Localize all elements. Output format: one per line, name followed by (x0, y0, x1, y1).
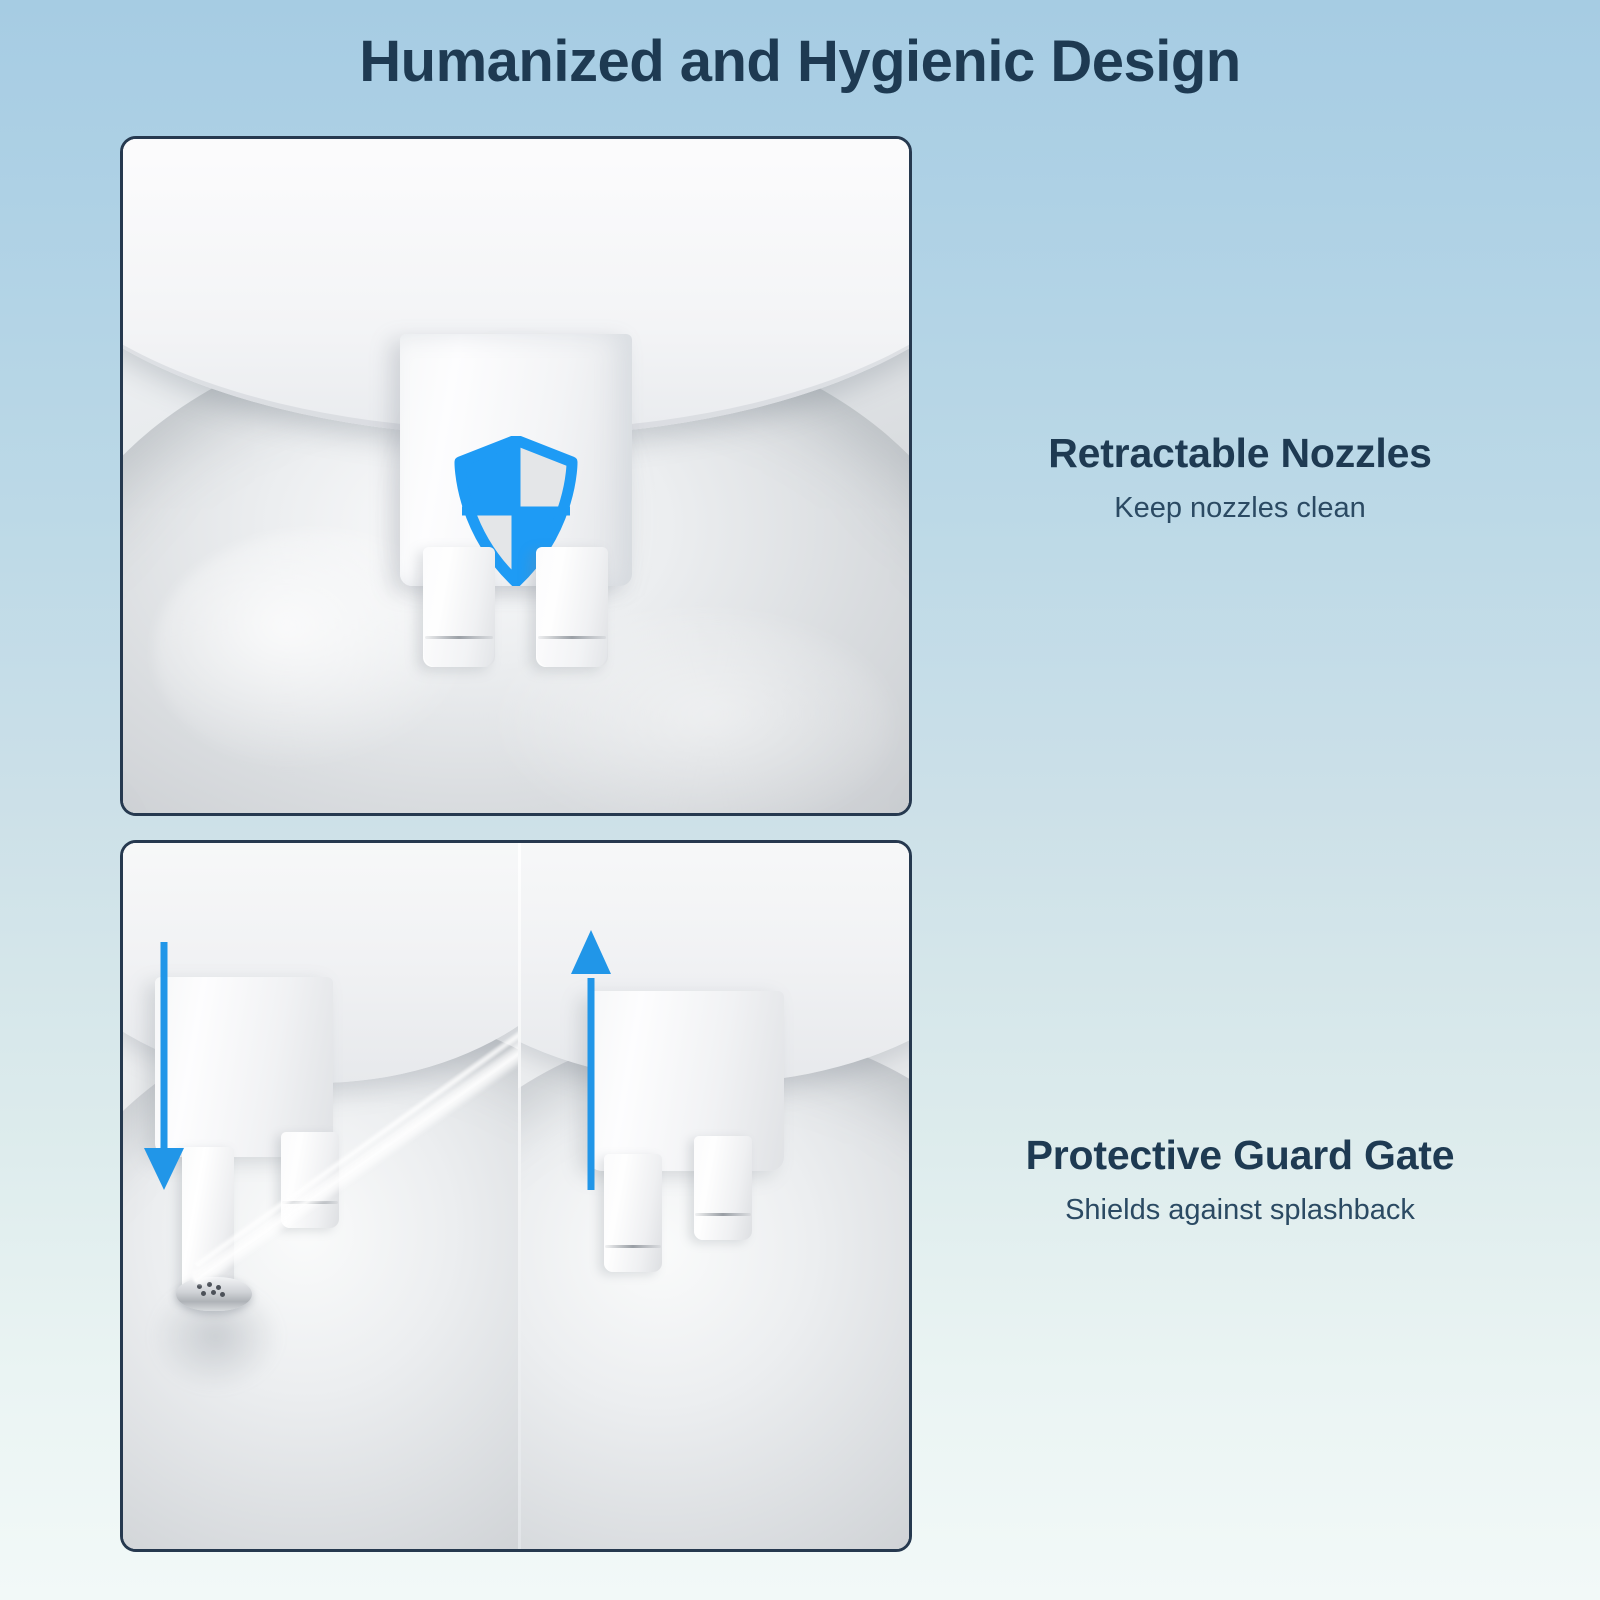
feature-image-retractable-nozzles (120, 136, 912, 816)
nozzle-tip-left-cap (424, 639, 494, 667)
comparison-divider (518, 843, 521, 1549)
feature-title-protective-guard-gate: Protective Guard Gate (940, 1132, 1540, 1179)
feature-image-protective-guard-gate (120, 840, 912, 1552)
nozzle-spray-head (176, 1277, 252, 1311)
nozzle-tip-right-cap (537, 639, 607, 667)
feature-title-retractable-nozzles: Retractable Nozzles (940, 430, 1540, 477)
nozzle-housing-right (588, 991, 784, 1171)
toilet-bowl-scene-nozzles (123, 139, 909, 813)
nozzle-tip-right (536, 547, 608, 667)
feature-caption-retractable-nozzles: Retractable Nozzles Keep nozzles clean (940, 430, 1540, 526)
comparison-half-retracted (518, 843, 909, 1549)
feature-caption-protective-guard-gate: Protective Guard Gate Shields against sp… (940, 1132, 1540, 1228)
nozzle-tip-right-b (694, 1136, 752, 1240)
comparison-half-extended (123, 843, 518, 1549)
arrow-up-icon (568, 928, 614, 1195)
nozzle-tip-left (423, 547, 495, 667)
nozzle-tip-right-b-seam (695, 1213, 751, 1216)
feature-subtitle-protective-guard-gate: Shields against splashback (940, 1193, 1540, 1228)
nozzle-tip-right-a-seam (605, 1245, 661, 1248)
page-title: Humanized and Hygienic Design (0, 28, 1600, 95)
toilet-bowl-scene-guard (123, 843, 909, 1549)
feature-subtitle-retractable-nozzles: Keep nozzles clean (940, 491, 1540, 526)
arrow-down-icon (141, 942, 187, 1197)
